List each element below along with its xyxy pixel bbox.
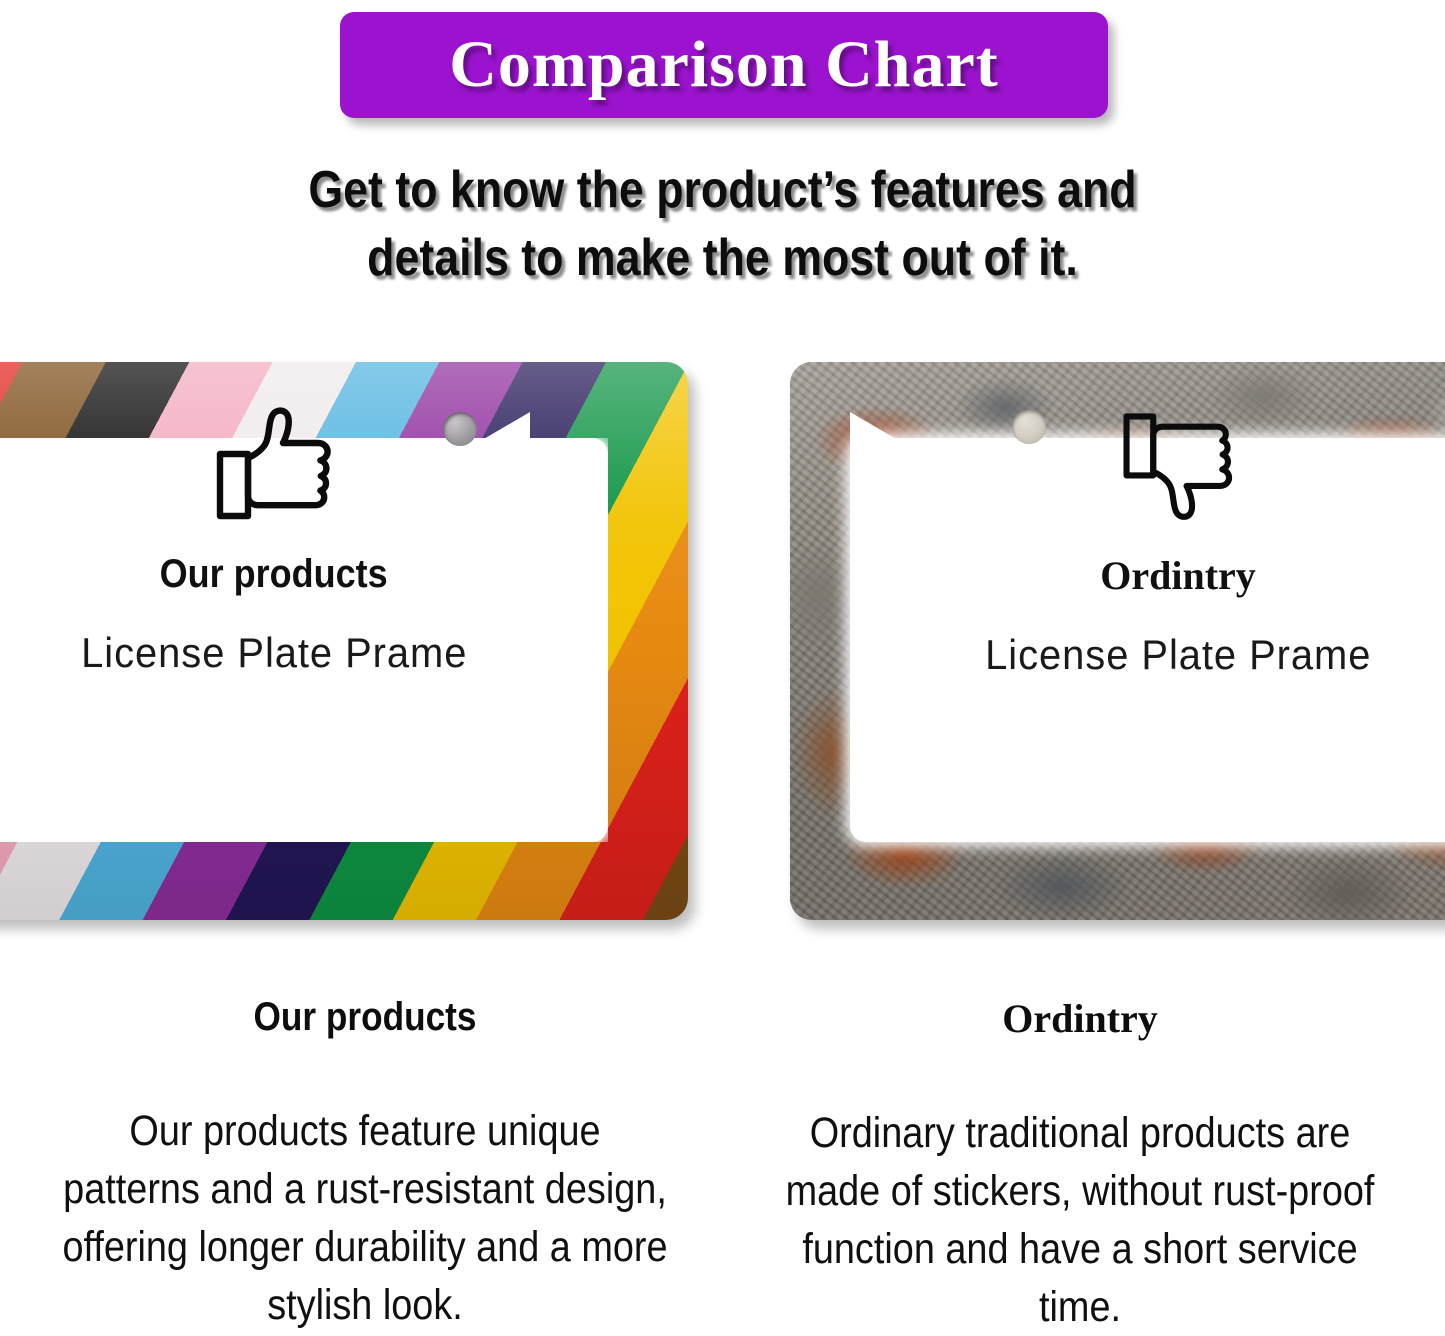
page-subtitle: Get to know the product’s features and d…	[101, 156, 1344, 292]
right-column-body: Ordinary traditional products are made o…	[776, 1104, 1383, 1336]
left-product-frame: Our products License Plate Prame	[0, 362, 688, 920]
right-plate-content: Ordintry License Plate Prame	[790, 362, 1445, 920]
left-plate-heading: Our products	[160, 552, 388, 597]
left-column-body: Our products feature unique patterns and…	[61, 1102, 668, 1334]
right-product-frame: Ordintry License Plate Prame	[790, 362, 1445, 920]
right-plate-subtitle: License Plate Prame	[985, 631, 1371, 679]
subtitle-line-1: Get to know the product’s features and	[101, 156, 1344, 224]
right-column-heading: Ordintry	[735, 995, 1425, 1042]
left-description-column: Our products Our products feature unique…	[20, 995, 710, 1334]
left-plate-subtitle: License Plate Prame	[81, 629, 467, 677]
page-title: Comparison Chart	[449, 27, 999, 103]
subtitle-line-2: details to make the most out of it.	[101, 224, 1344, 292]
right-description-column: Ordintry Ordinary traditional products a…	[735, 995, 1425, 1336]
left-column-heading: Our products	[61, 995, 668, 1040]
thumbs-up-icon	[210, 404, 338, 526]
right-frame-body: Ordintry License Plate Prame	[790, 362, 1445, 920]
right-plate-heading: Ordintry	[1100, 552, 1256, 599]
left-plate-content: Our products License Plate Prame	[0, 362, 608, 920]
thumbs-down-icon	[1117, 404, 1239, 526]
left-frame-body: Our products License Plate Prame	[0, 362, 688, 920]
title-banner: Comparison Chart	[340, 12, 1108, 118]
